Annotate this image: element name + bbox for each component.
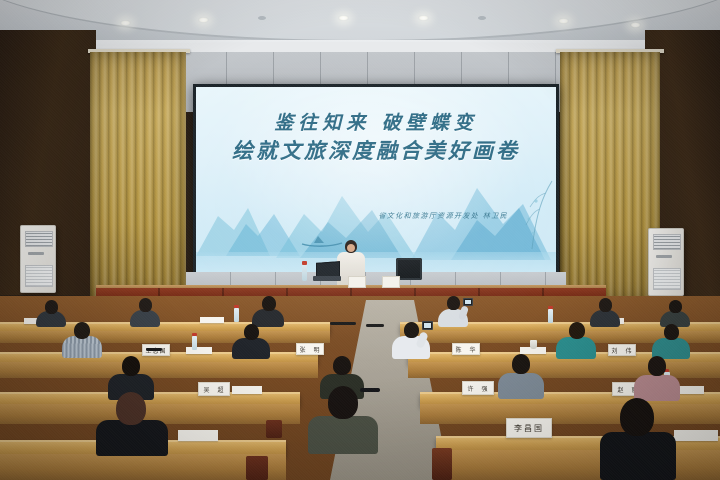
ceiling-downlight-icon bbox=[120, 20, 131, 26]
attendee-head bbox=[74, 322, 90, 339]
attendee bbox=[634, 356, 680, 400]
attendee-shoulders bbox=[62, 336, 102, 358]
smartphone-screen bbox=[424, 323, 431, 328]
attendee-head bbox=[569, 322, 585, 339]
attendee-shoulders bbox=[308, 416, 378, 454]
name-placard-text: 吴 超 bbox=[203, 385, 224, 394]
attendee-shoulders bbox=[130, 310, 160, 327]
attendee-head bbox=[669, 300, 682, 313]
ac-logo bbox=[656, 255, 672, 258]
attendee-head bbox=[512, 354, 530, 374]
attendee bbox=[62, 322, 102, 356]
projection-screen: 鉴往知来 破壁蝶变 绘就文旅深度融合美好画卷 省文化和旅游厅资源开发处 林卫民 bbox=[196, 87, 556, 276]
ceiling-downlight-icon bbox=[258, 16, 266, 20]
drinking-cup bbox=[530, 340, 537, 349]
attendee-foreground bbox=[308, 386, 378, 452]
attendee bbox=[498, 354, 544, 398]
attendee bbox=[652, 324, 690, 358]
attendee bbox=[438, 296, 468, 326]
name-placard-text: 李昌国 bbox=[514, 423, 544, 434]
chair-back bbox=[432, 448, 452, 480]
chair-back bbox=[266, 420, 282, 438]
attendee-shoulders bbox=[556, 337, 596, 359]
handout-paper bbox=[178, 430, 218, 441]
ceiling-downlight-icon bbox=[198, 17, 209, 23]
attendee bbox=[232, 324, 270, 358]
ceiling-curve bbox=[0, 0, 720, 42]
air-conditioner-right bbox=[648, 228, 684, 296]
attendee-head bbox=[262, 296, 276, 311]
attendee-head bbox=[333, 356, 351, 375]
attendee bbox=[130, 298, 160, 326]
desk-row-2-left-front bbox=[0, 362, 318, 378]
desk-row-4-right-front bbox=[436, 450, 720, 480]
slide-title-line-1: 鉴往知来 破壁蝶变 bbox=[196, 111, 556, 135]
ac-logo bbox=[28, 252, 44, 255]
name-placard-foreground: 李昌国 bbox=[506, 418, 552, 438]
desk-row-4-left-front bbox=[0, 454, 286, 480]
water-bottle bbox=[234, 308, 239, 322]
microphone-icon bbox=[146, 348, 162, 351]
smartphone bbox=[422, 321, 433, 330]
ceiling-downlight-icon bbox=[478, 16, 486, 20]
attendee-head bbox=[328, 386, 358, 419]
projection-screen-frame: 鉴往知来 破壁蝶变 绘就文旅深度融合美好画卷 省文化和旅游厅资源开发处 林卫民 bbox=[193, 84, 559, 279]
name-placard: 陈 华 bbox=[452, 343, 480, 355]
ceiling-downlight-icon bbox=[418, 15, 429, 21]
attendee-head bbox=[244, 324, 259, 340]
attendee-with-phone bbox=[392, 320, 430, 358]
attendee-head bbox=[122, 356, 140, 376]
ceiling-downlight-icon bbox=[338, 15, 349, 21]
name-placard-text: 张 明 bbox=[299, 345, 320, 354]
attendee bbox=[252, 296, 284, 326]
attendee-head bbox=[447, 296, 460, 310]
chair-back bbox=[246, 456, 268, 480]
microphone-icon bbox=[366, 324, 384, 327]
microphone-icon bbox=[360, 388, 380, 392]
presenter-face bbox=[347, 244, 355, 252]
attendee bbox=[556, 322, 596, 358]
handout-paper bbox=[674, 430, 718, 441]
laptop-keyboard bbox=[313, 276, 341, 281]
ac-grill-icon bbox=[25, 231, 53, 247]
presenter-water-bottle bbox=[302, 264, 307, 281]
smartphone bbox=[463, 298, 473, 306]
attendee-shoulders bbox=[600, 432, 676, 480]
table-placard bbox=[382, 276, 400, 288]
attendee-shoulders bbox=[498, 373, 544, 399]
ac-vent-icon bbox=[653, 268, 681, 290]
branch-artwork bbox=[508, 179, 554, 258]
name-placard: 吴 超 bbox=[198, 382, 230, 396]
attendee-head bbox=[404, 322, 419, 338]
ac-vent-icon bbox=[25, 265, 53, 287]
ac-grill-icon bbox=[653, 234, 681, 250]
attendee-head bbox=[139, 298, 152, 312]
name-placard: 张 明 bbox=[296, 343, 324, 355]
slide-title: 鉴往知来 破壁蝶变 绘就文旅深度融合美好画卷 bbox=[196, 111, 556, 165]
attendee bbox=[660, 300, 690, 326]
slide-title-line-2: 绘就文旅深度融合美好画卷 bbox=[196, 137, 556, 165]
name-placard: 刘 伟 bbox=[608, 344, 636, 356]
curtain-left bbox=[90, 52, 186, 298]
presenter-laptop bbox=[313, 262, 341, 282]
handout-paper bbox=[232, 386, 262, 394]
table-placard bbox=[348, 276, 366, 288]
name-placard-text: 刘 伟 bbox=[611, 346, 632, 355]
attendee-shoulders bbox=[232, 338, 270, 359]
handout-paper bbox=[200, 317, 224, 323]
attendee-foreground bbox=[96, 392, 168, 454]
slide-subtitle: 省文化和旅游厅资源开发处 林卫民 bbox=[378, 211, 508, 221]
attendee-head bbox=[648, 356, 666, 376]
name-placard: 许 强 bbox=[462, 381, 494, 395]
handout-paper bbox=[186, 347, 212, 354]
bottle-cap bbox=[302, 261, 307, 265]
water-bottle bbox=[192, 336, 197, 350]
attendee-head bbox=[664, 324, 679, 340]
name-placard-text: 许 强 bbox=[467, 384, 488, 393]
air-conditioner-left bbox=[20, 225, 56, 293]
ceiling-downlight-icon bbox=[630, 22, 641, 28]
name-placard-text: 陈 华 bbox=[455, 345, 476, 354]
smartphone-screen bbox=[465, 300, 471, 304]
attendee-head bbox=[620, 398, 654, 436]
desk-row-1-left-front bbox=[0, 331, 330, 343]
water-bottle bbox=[548, 309, 553, 323]
attendee-foreground bbox=[600, 398, 676, 480]
lecture-hall-photo: 鉴往知来 破壁蝶变 绘就文旅深度融合美好画卷 省文化和旅游厅资源开发处 林卫民 bbox=[0, 0, 720, 480]
attendee-shoulders bbox=[96, 420, 168, 456]
attendee-head bbox=[116, 392, 146, 425]
attendee-head bbox=[599, 298, 612, 312]
attendee-head bbox=[45, 300, 58, 314]
curtain-right bbox=[560, 52, 660, 302]
ceiling-downlight-icon bbox=[558, 18, 569, 24]
microphone-icon bbox=[330, 322, 356, 325]
